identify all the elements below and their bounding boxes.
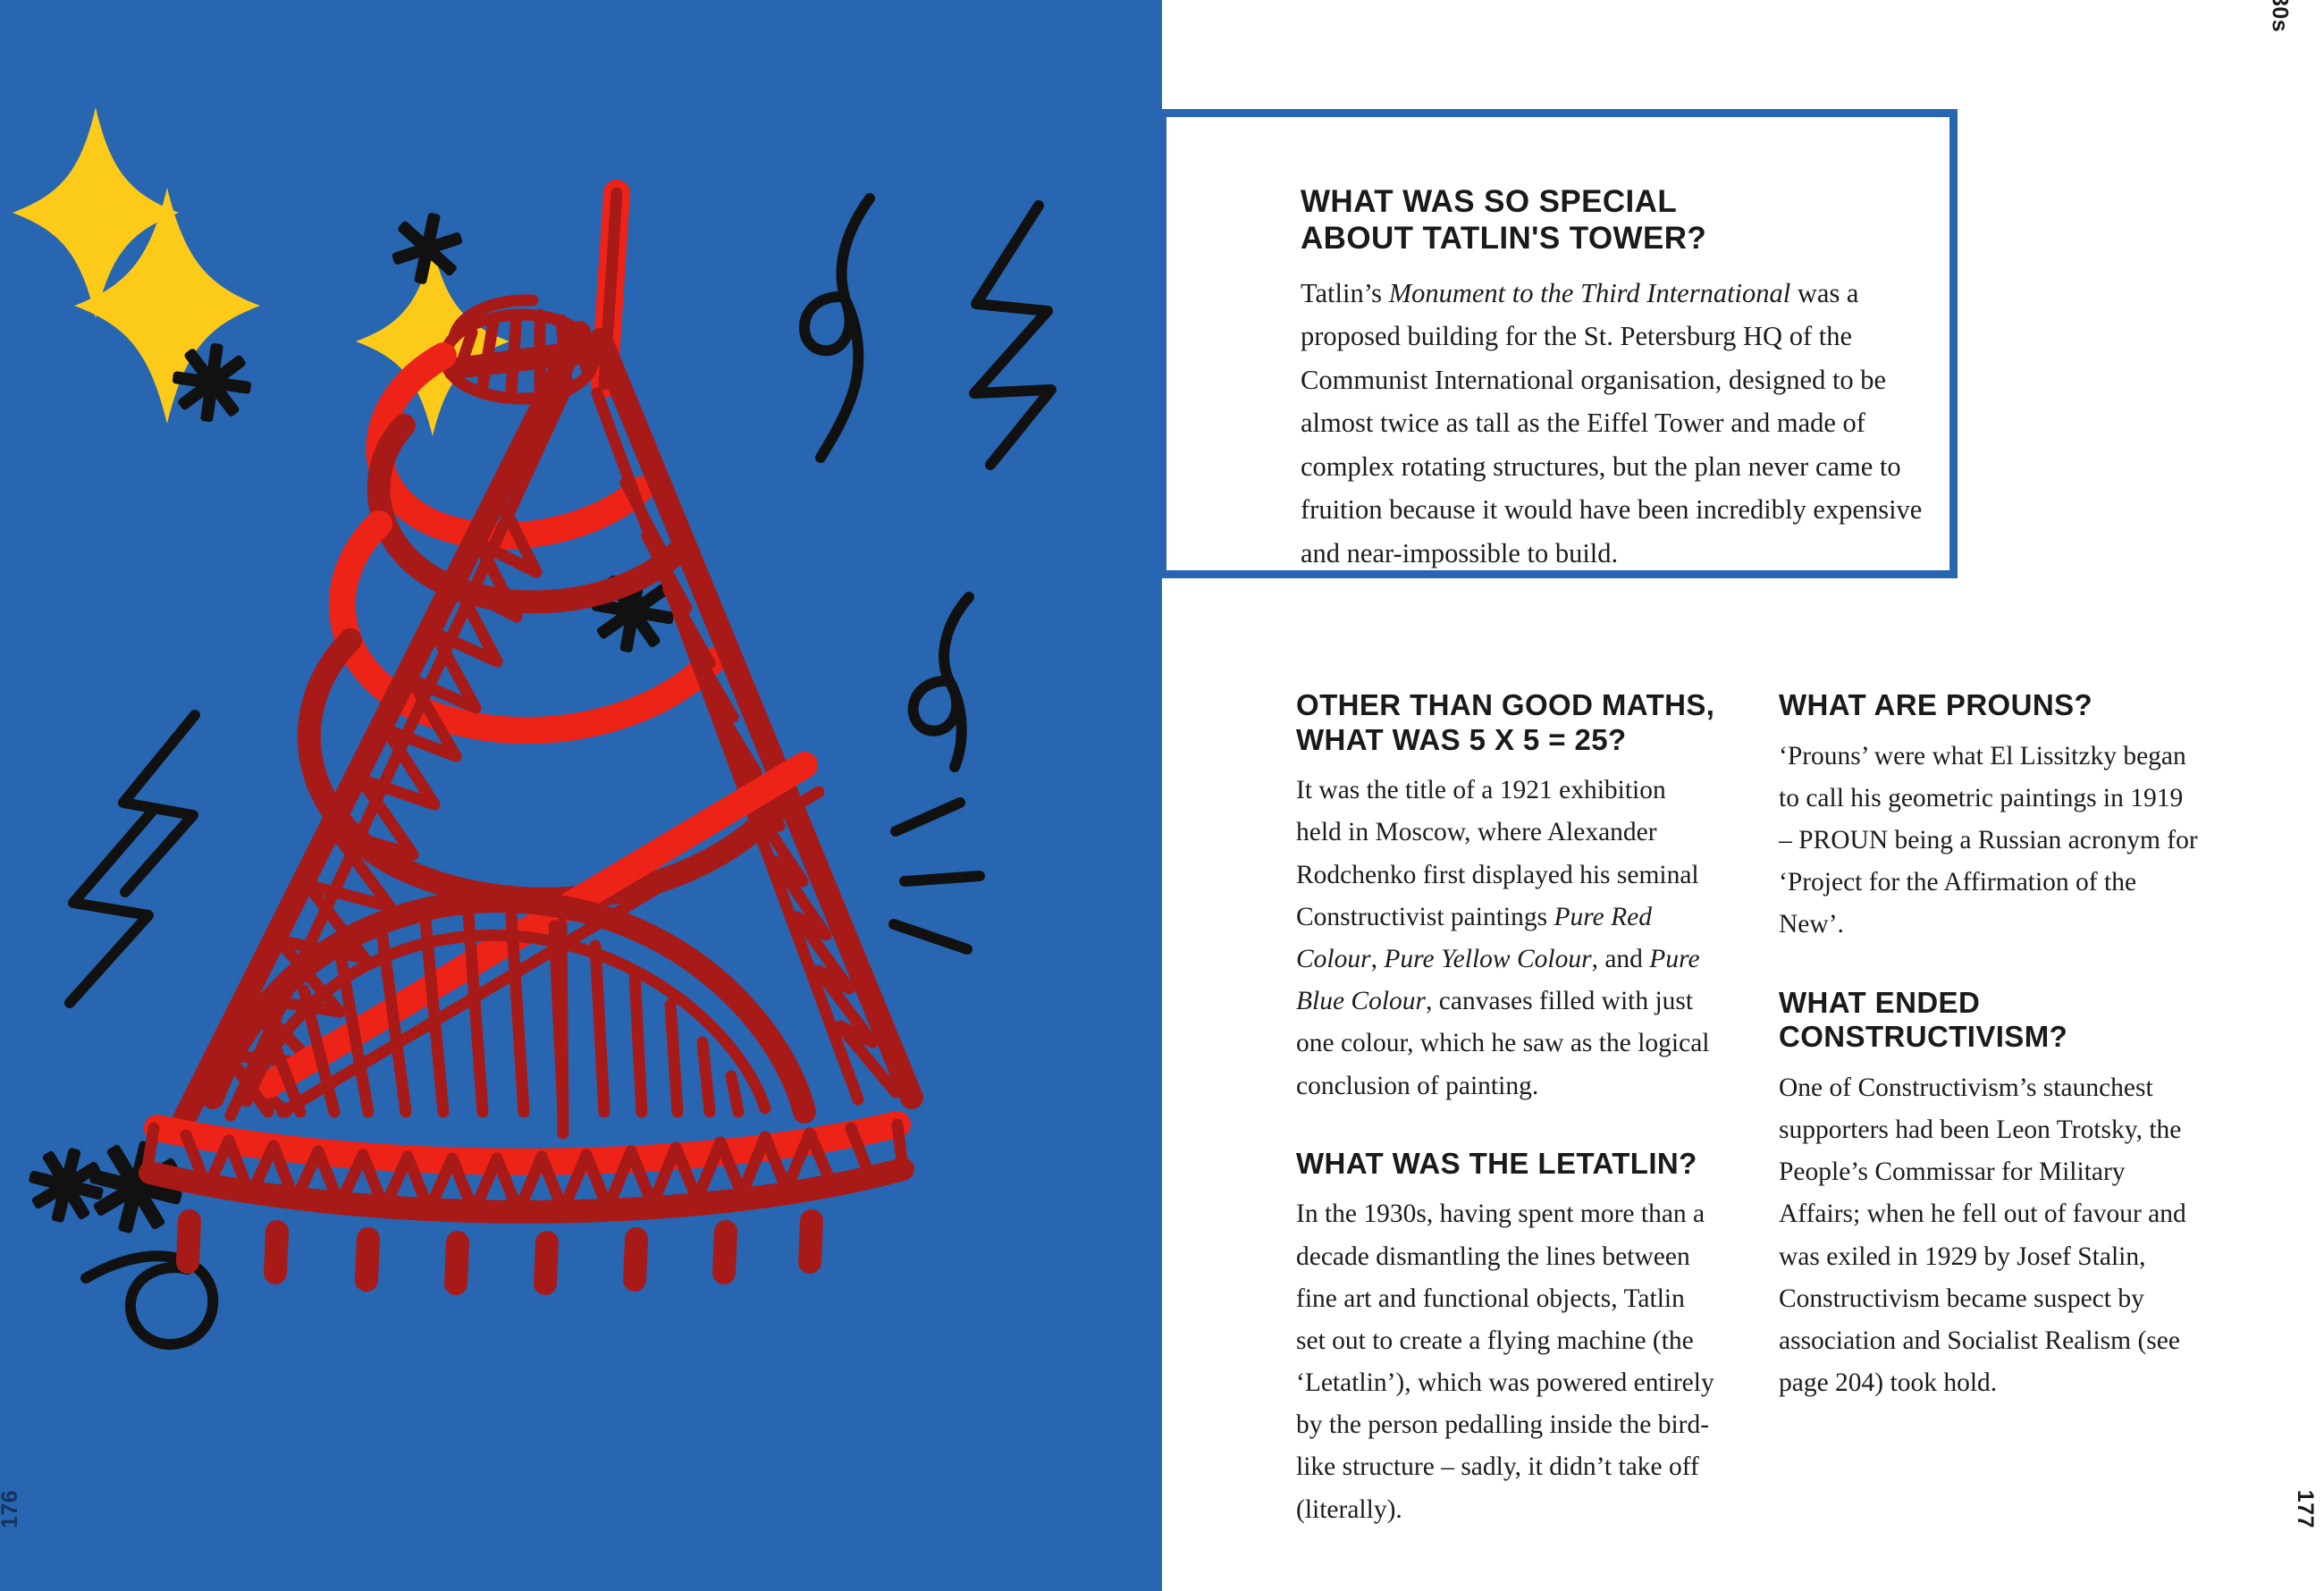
squiggle-curl-right <box>914 597 969 767</box>
qa-columns: OTHER THAN GOOD MATHS, WHAT WAS 5 X 5 = … <box>1296 688 2199 1531</box>
qa-heading-prouns: WHAT ARE PROUNS? <box>1779 688 2199 723</box>
feature-heading-line-2: ABOUT TATLIN'S TOWER? <box>1301 221 1706 256</box>
qa-block-prouns: WHAT ARE PROUNS? ‘Prouns’ were what El L… <box>1779 688 2199 947</box>
body-italic-pure-yellow: Pure Yellow Colour <box>1384 945 1591 973</box>
tower-center-post <box>561 924 563 1133</box>
qa-body-letatlin: In the 1930s, having spent more than a d… <box>1296 1193 1716 1531</box>
feature-box-content: WHAT WAS SO SPECIAL ABOUT TATLIN'S TOWER… <box>1301 184 1926 575</box>
book-spread: .rk { fill: none; stroke: #A81A17; strok… <box>0 0 2324 1591</box>
feature-box-body: Tatlin’s Monument to the Third Internati… <box>1301 272 1926 575</box>
qa-heading-ended-constructivism: WHAT ENDED CONSTRUCTIVISM? <box>1779 986 2199 1055</box>
lightning-bolt-top <box>974 206 1051 465</box>
qa-block-letatlin: WHAT WAS THE LETATLIN? In the 1930s, hav… <box>1296 1147 1716 1531</box>
right-page: 1910s–1930s WHAT WAS SO SPECIAL ABOUT TA… <box>1162 0 2324 1591</box>
body-part-2: , <box>1371 945 1385 973</box>
sparkle-star-group <box>13 107 509 436</box>
qa-heading-letatlin: WHAT WAS THE LETATLIN? <box>1296 1147 1716 1182</box>
body-part-3: , and <box>1592 945 1650 973</box>
tatlin-tower-illustration: .rk { fill: none; stroke: #A81A17; strok… <box>0 0 1162 1591</box>
qa-heading-five-by-five: OTHER THAN GOOD MATHS, WHAT WAS 5 X 5 = … <box>1296 688 1716 757</box>
heading-line-2: WHAT WAS 5 X 5 = 25? <box>1296 723 1627 756</box>
feature-body-italic-title: Monument to the Third International <box>1389 278 1791 308</box>
spark-lines-right <box>894 803 980 949</box>
qa-block-ended-constructivism: WHAT ENDED CONSTRUCTIVISM? One of Constr… <box>1779 986 2199 1405</box>
feature-heading-line-1: WHAT WAS SO SPECIAL <box>1301 184 1677 219</box>
qa-body-five-by-five: It was the title of a 1921 exhibition he… <box>1296 770 1716 1107</box>
tower-structure <box>147 193 912 1284</box>
asterisk-star-5 <box>21 1140 112 1231</box>
heading-line-1: WHAT WAS THE LETATLIN? <box>1296 1147 1697 1180</box>
squiggle-curl-top <box>804 198 870 458</box>
heading-line-1: OTHER THAN GOOD MATHS, <box>1296 688 1714 721</box>
tower-base <box>147 1124 903 1284</box>
page-number-right: 177 <box>2292 1490 2318 1528</box>
qa-body-prouns: ‘Prouns’ were what El Lissitzky began to… <box>1779 736 2199 947</box>
feature-box-heading: WHAT WAS SO SPECIAL ABOUT TATLIN'S TOWER… <box>1301 184 1926 257</box>
heading-line-2: CONSTRUCTIVISM? <box>1779 1020 2067 1053</box>
lightning-bolt-left-upper <box>123 715 195 892</box>
feature-body-part-1: Tatlin’s <box>1301 278 1389 308</box>
qa-block-five-by-five: OTHER THAN GOOD MATHS, WHAT WAS 5 X 5 = … <box>1296 688 1716 1107</box>
qa-column-right: WHAT ARE PROUNS? ‘Prouns’ were what El L… <box>1779 688 2199 1531</box>
heading-line-1: WHAT ENDED <box>1779 986 1980 1019</box>
lightning-bolt-left-lower <box>70 812 152 1003</box>
page-number-left: 176 <box>0 1490 23 1528</box>
feature-body-part-2: was a proposed building for the St. Pete… <box>1301 278 1922 568</box>
running-head: 1910s–1930s <box>2266 0 2292 32</box>
qa-body-ended-constructivism: One of Constructivism’s staunchest suppo… <box>1779 1067 2199 1405</box>
feature-callout-box: WHAT WAS SO SPECIAL ABOUT TATLIN'S TOWER… <box>1162 109 1958 578</box>
asterisk-star-1 <box>386 206 467 290</box>
heading-line-1: WHAT ARE PROUNS? <box>1779 688 2092 721</box>
qa-column-left: OTHER THAN GOOD MATHS, WHAT WAS 5 X 5 = … <box>1296 688 1716 1531</box>
left-page: .rk { fill: none; stroke: #A81A17; strok… <box>0 0 1162 1591</box>
tower-feet <box>188 1221 812 1284</box>
